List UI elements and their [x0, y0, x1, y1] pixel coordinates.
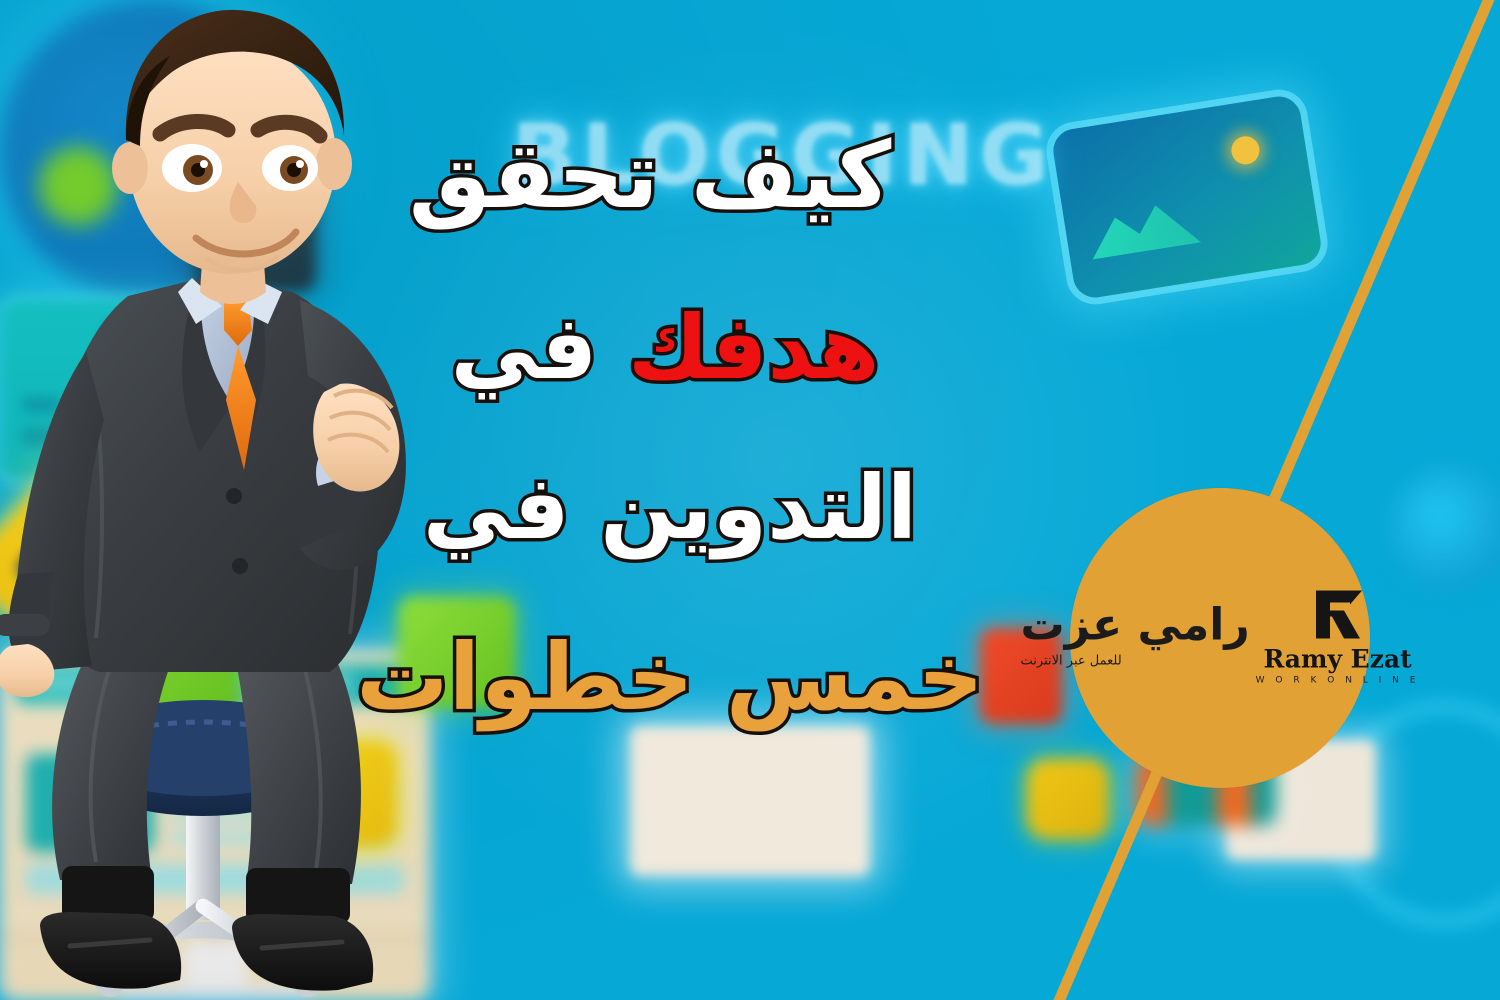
brand-arabic-tagline: للعمل عبر الانترنت — [1021, 654, 1250, 669]
headline-block: كيف تحقق هدفك في التدوين في خمس خطوات — [300, 130, 1040, 724]
brand-arabic-name: رامي عزت — [1021, 604, 1250, 648]
brand-monogram-icon — [1310, 587, 1366, 643]
brand-logo-badge[interactable]: رامي عزت للعمل عبر الانترنت Ramy Ezat W … — [1070, 488, 1370, 788]
headline-line-4: خمس خطوات — [300, 632, 1040, 724]
brand-latin-name: Ramy Ezat — [1263, 647, 1411, 672]
headline-line-3: التدوين في — [300, 464, 1040, 552]
headline-line-1: كيف تحقق — [300, 130, 1040, 222]
headline-line-2-white: في — [451, 296, 598, 399]
thumbnail-canvas: BLOGGING — [0, 0, 1500, 1000]
brand-latin-block: Ramy Ezat W O R K O N L I N E — [1256, 587, 1420, 686]
headline-line-2: هدفك في — [300, 304, 1040, 392]
brand-latin-tagline: W O R K O N L I N E — [1256, 676, 1420, 686]
headline-line-2-red: هدفك — [628, 296, 879, 399]
brand-arabic-block: رامي عزت للعمل عبر الانترنت — [1021, 604, 1250, 669]
